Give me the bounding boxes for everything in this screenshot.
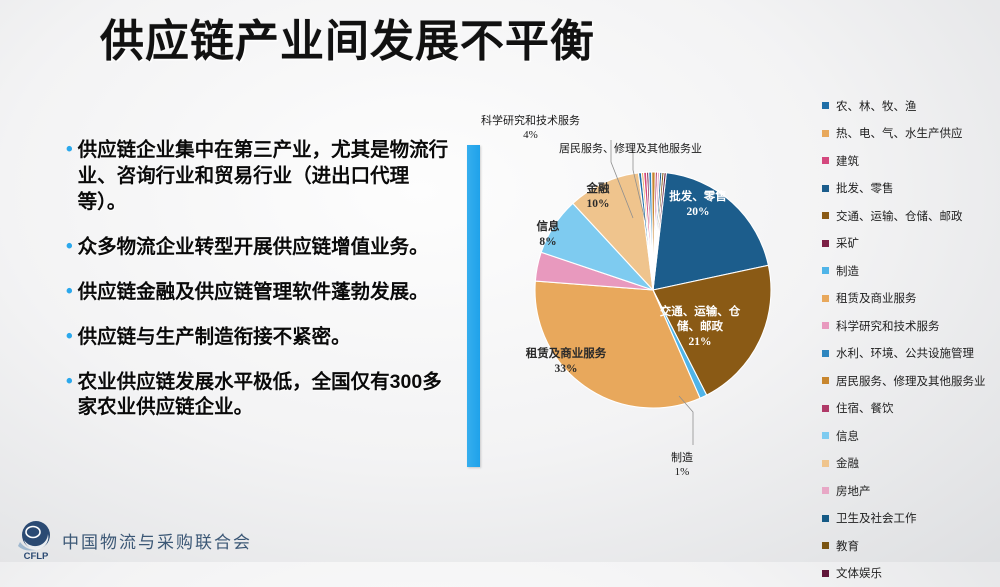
- page-title: 供应链产业间发展不平衡: [100, 17, 820, 68]
- legend-item[interactable]: 科学研究和技术服务: [822, 312, 1000, 340]
- legend-item[interactable]: 信息: [822, 422, 1000, 450]
- list-item: • 众多物流企业转型开展供应链增值业务。: [66, 235, 456, 261]
- pie-slice-label-leasing: 租赁及商业服务 33%: [511, 347, 621, 377]
- legend-swatch-icon: [822, 267, 829, 274]
- legend-swatch-icon: [822, 570, 829, 577]
- bullet-marker-icon: •: [66, 325, 73, 349]
- legend-swatch-icon: [822, 130, 829, 137]
- legend-swatch-icon: [822, 295, 829, 302]
- list-item: • 农业供应链发展水平极低，全国仅有300多家农业供应链企业。: [66, 370, 456, 422]
- legend-swatch-icon: [822, 322, 829, 329]
- legend-item[interactable]: 批发、零售: [822, 175, 1000, 203]
- pie-callout-science: 科学研究和技术服务 4%: [481, 115, 580, 143]
- legend-item[interactable]: 金融: [822, 450, 1000, 478]
- legend-item-label: 农、林、牧、渔: [836, 98, 917, 114]
- legend-item[interactable]: 农、林、牧、渔: [822, 92, 1000, 120]
- legend-swatch-icon: [822, 377, 829, 384]
- legend-item-label: 居民服务、修理及其他服务业: [836, 373, 986, 389]
- bullet-text: 众多物流企业转型开展供应链增值业务。: [78, 235, 429, 261]
- legend-item[interactable]: 交通、运输、仓储、邮政: [822, 202, 1000, 230]
- legend-item[interactable]: 文体娱乐: [822, 560, 1000, 587]
- legend-item-label: 信息: [836, 428, 859, 444]
- legend-item-label: 热、电、气、水生产供应: [836, 125, 963, 141]
- bullet-list: • 供应链企业集中在第三产业，尤其是物流行业、咨询行业和贸易行业（进出口代理等）…: [66, 138, 456, 440]
- legend-item-label: 文体娱乐: [836, 565, 882, 581]
- list-item: • 供应链与生产制造衔接不紧密。: [66, 325, 456, 351]
- legend-swatch-icon: [822, 185, 829, 192]
- legend-item-label: 交通、运输、仓储、邮政: [836, 208, 963, 224]
- legend-item-label: 采矿: [836, 235, 859, 251]
- legend-item[interactable]: 水利、环境、公共设施管理: [822, 340, 1000, 368]
- pie-chart: 科学研究和技术服务 4% 居民服务、修理及其他服务业 制造 1% 批发、零售 2…: [483, 100, 823, 520]
- legend-item[interactable]: 租赁及商业服务: [822, 285, 1000, 313]
- bullet-marker-icon: •: [66, 370, 73, 394]
- legend-item-label: 水利、环境、公共设施管理: [836, 345, 974, 361]
- legend-swatch-icon: [822, 240, 829, 247]
- bullet-marker-icon: •: [66, 280, 73, 304]
- legend-item-label: 制造: [836, 263, 859, 279]
- bullet-marker-icon: •: [66, 138, 73, 162]
- legend-item[interactable]: 采矿: [822, 230, 1000, 258]
- logo-text: CFLP: [24, 551, 49, 562]
- legend-item[interactable]: 建筑: [822, 147, 1000, 175]
- list-item: • 供应链金融及供应链管理软件蓬勃发展。: [66, 280, 456, 306]
- pie-slice-label-finance: 金融 10%: [574, 182, 622, 212]
- legend-swatch-icon: [822, 487, 829, 494]
- bullet-text: 供应链企业集中在第三产业，尤其是物流行业、咨询行业和贸易行业（进出口代理等）。: [78, 138, 456, 216]
- legend-item-label: 建筑: [836, 153, 859, 169]
- bullet-marker-icon: •: [66, 235, 73, 259]
- bullet-text: 农业供应链发展水平极低，全国仅有300多家农业供应链企业。: [78, 370, 456, 422]
- legend-item-label: 租赁及商业服务: [836, 290, 917, 306]
- pie-slice-label-wholesale: 批发、零售 20%: [650, 190, 746, 220]
- legend-item-label: 房地产: [836, 483, 871, 499]
- accent-divider-bar: [467, 145, 480, 467]
- bullet-text: 供应链与生产制造衔接不紧密。: [78, 325, 351, 351]
- legend-swatch-icon: [822, 350, 829, 357]
- legend-item[interactable]: 热、电、气、水生产供应: [822, 120, 1000, 148]
- legend-item[interactable]: 制造: [822, 257, 1000, 285]
- legend-item-label: 住宿、餐饮: [836, 400, 894, 416]
- pie-callout-resident-services: 居民服务、修理及其他服务业: [559, 143, 702, 157]
- legend-item-label: 金融: [836, 455, 859, 471]
- legend-item-label: 批发、零售: [836, 180, 894, 196]
- legend-item[interactable]: 住宿、餐饮: [822, 395, 1000, 423]
- legend-swatch-icon: [822, 405, 829, 412]
- pie-slice-label-information: 信息 8%: [524, 220, 572, 250]
- legend-swatch-icon: [822, 432, 829, 439]
- list-item: • 供应链企业集中在第三产业，尤其是物流行业、咨询行业和贸易行业（进出口代理等）…: [66, 138, 456, 216]
- legend-swatch-icon: [822, 212, 829, 219]
- pie-slice-label-transport: 交通、运输、仓 储、邮政 21%: [645, 305, 755, 350]
- legend-swatch-icon: [822, 460, 829, 467]
- legend-swatch-icon: [822, 157, 829, 164]
- pie-callout-manufacturing: 制造 1%: [671, 452, 693, 480]
- legend-swatch-icon: [822, 102, 829, 109]
- slide-root: 供应链产业间发展不平衡 • 供应链企业集中在第三产业，尤其是物流行业、咨询行业和…: [0, 0, 1000, 562]
- legend-item[interactable]: 房地产: [822, 477, 1000, 505]
- organization-name: 中国物流与采购联合会: [62, 528, 252, 553]
- legend-item-label: 科学研究和技术服务: [836, 318, 940, 334]
- legend-item[interactable]: 居民服务、修理及其他服务业: [822, 367, 1000, 395]
- bullet-text: 供应链金融及供应链管理软件蓬勃发展。: [78, 280, 429, 306]
- cflp-logo-icon: CFLP: [14, 518, 58, 562]
- slide-footer: CFLP 中国物流与采购联合会: [0, 512, 1000, 562]
